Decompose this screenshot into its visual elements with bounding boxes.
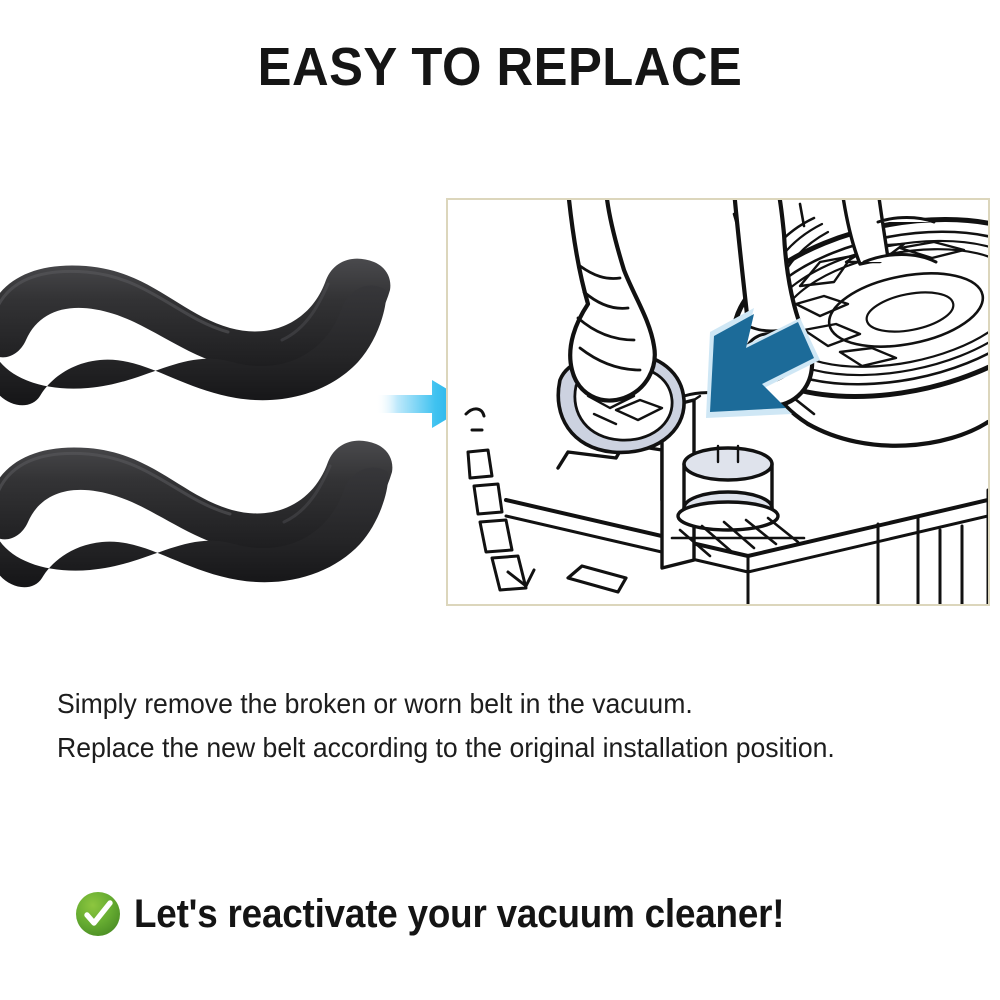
product-image-belt-2 [0, 418, 404, 588]
call-to-action: Let's reactivate your vacuum cleaner! [74, 890, 841, 938]
belt-icon [0, 236, 402, 406]
installation-diagram-panel [446, 198, 990, 606]
check-circle-icon [74, 890, 122, 938]
instructions-paragraph: Simply remove the broken or worn belt in… [57, 682, 931, 770]
product-infographic: EASY TO REPLACE [0, 0, 1000, 1000]
product-image-belt-1 [0, 236, 402, 406]
instruction-line-2: Replace the new belt according to the or… [57, 726, 931, 770]
installation-line-art [448, 200, 988, 604]
page-title: EASY TO REPLACE [30, 36, 970, 98]
belt-icon [0, 418, 404, 588]
pulley-spindle-icon [672, 446, 804, 556]
instruction-line-1: Simply remove the broken or worn belt in… [57, 682, 931, 726]
cta-label: Let's reactivate your vacuum cleaner! [134, 892, 784, 937]
